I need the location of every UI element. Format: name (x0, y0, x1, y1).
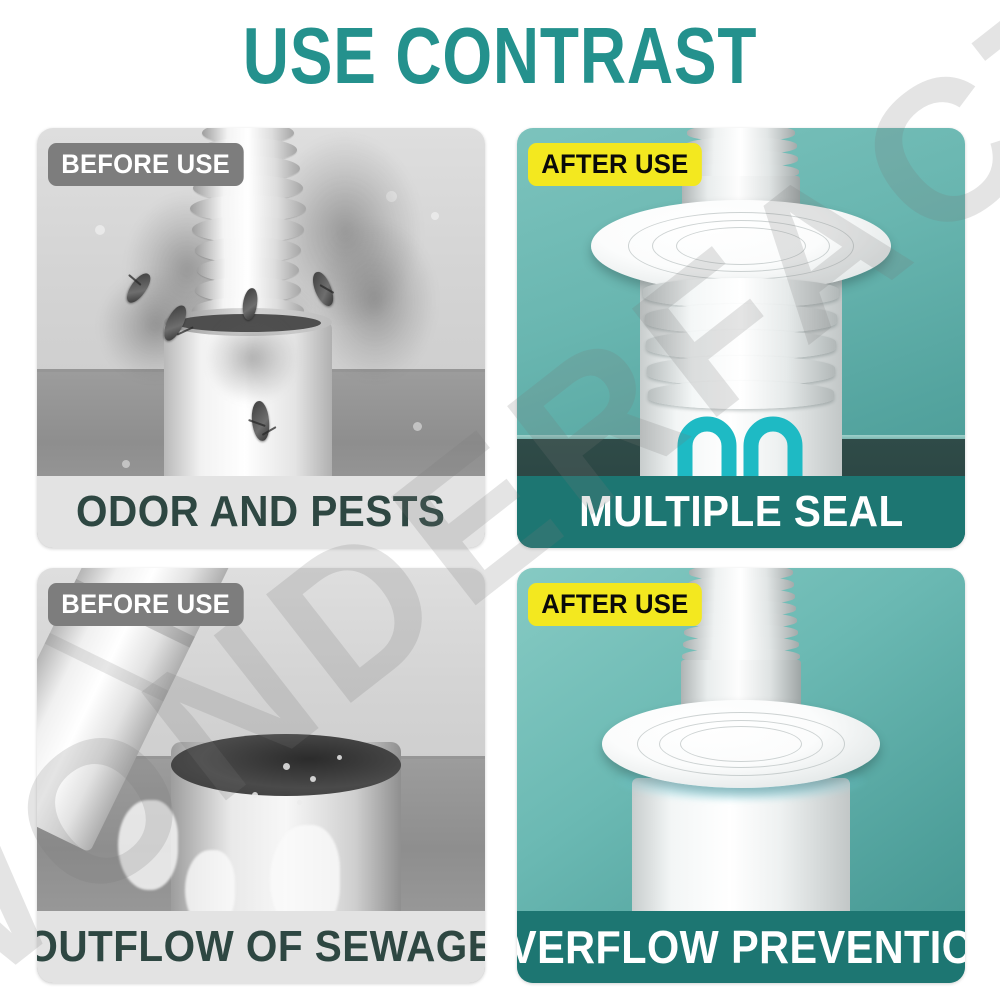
panel-caption-bar: ODOR AND PESTS (37, 476, 485, 548)
wall-speck (122, 460, 130, 468)
badge-after-use: AFTER USE (528, 583, 702, 626)
panel-outflow-of-sewage[interactable]: BEFORE USE OUTFLOW OF SEWAGE (37, 568, 485, 983)
panel-caption-bar: OUTFLOW OF SEWAGE (37, 911, 485, 983)
wall-speck (95, 225, 105, 235)
sewage-bubble (337, 755, 342, 760)
panel-caption: OUTFLOW OF SEWAGE (37, 923, 485, 971)
panel-multiple-seal[interactable]: AFTER USE MULTIPLE SEAL (517, 128, 965, 548)
comparison-grid: BEFORE USE ODOR AND PESTS (37, 128, 965, 983)
panel-caption-bar: OVERFLOW PREVENTION (517, 911, 965, 983)
cap-groove-ring (676, 227, 806, 265)
panel-odor-and-pests[interactable]: BEFORE USE ODOR AND PESTS (37, 128, 485, 548)
page-title: USE CONTRAST (100, 10, 900, 102)
cap-groove-ring (680, 726, 802, 762)
smoke-wisp (207, 313, 297, 403)
panel-caption: OVERFLOW PREVENTION (517, 923, 965, 971)
badge-before-use: BEFORE USE (48, 143, 243, 186)
badge-before-use: BEFORE USE (48, 583, 243, 626)
panel-overflow-prevention[interactable]: AFTER USE OVERFLOW PREVENTION (517, 568, 965, 983)
panel-caption-bar: MULTIPLE SEAL (517, 476, 965, 548)
panel-caption: MULTIPLE SEAL (579, 488, 904, 536)
badge-after-use: AFTER USE (528, 143, 702, 186)
infographic-page: USE CONTRAST (0, 0, 1000, 1000)
sewage-bubble (310, 776, 316, 782)
water-splash (118, 800, 178, 890)
seal-fin (648, 381, 834, 409)
pipe-band (44, 632, 168, 701)
panel-caption: ODOR AND PESTS (76, 488, 445, 536)
